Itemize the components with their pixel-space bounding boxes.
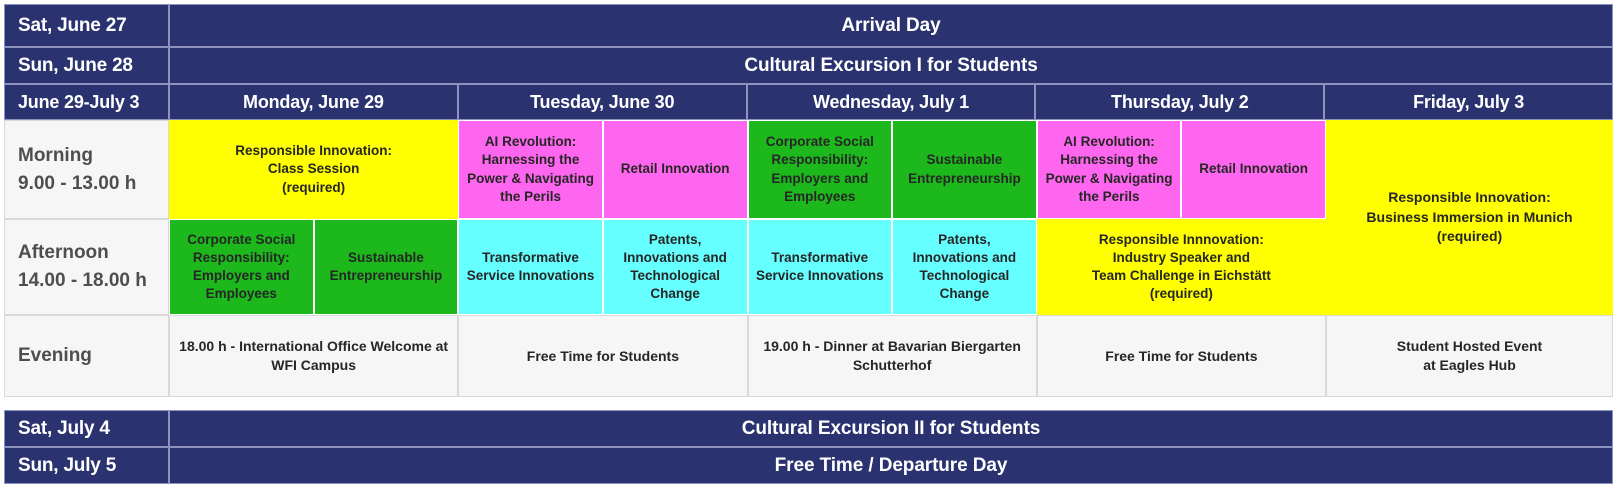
afternoon-label-time: 14.00 - 18.00 h xyxy=(18,267,147,295)
session-cell[interactable]: Patents, Innovations and Technological C… xyxy=(603,219,748,315)
session-cell[interactable]: Corporate Social Responsibility: Employe… xyxy=(169,219,314,315)
afternoon-tuesday: Transformative Service Innovations Paten… xyxy=(458,219,747,315)
friday-column: Responsible Innovation: Business Immersi… xyxy=(1326,120,1613,410)
row-day-label: Sat, July 4 xyxy=(4,410,169,447)
evening-day-columns: 18.00 h - International Office Welcome a… xyxy=(169,315,1326,397)
day-header-wednesday: Wednesday, July 1 xyxy=(747,84,1036,120)
schedule-table: Sat, June 27 Arrival Day Sun, June 28 Cu… xyxy=(0,0,1617,488)
row-day-label: Sun, June 28 xyxy=(4,47,169,84)
table-row: Sat, June 27 Arrival Day xyxy=(4,4,1613,47)
session-cell[interactable]: Transformative Service Innovations xyxy=(458,219,603,315)
evening-time-label: Evening xyxy=(4,315,169,397)
row-day-label: Sun, July 5 xyxy=(4,447,169,484)
evening-cell[interactable]: Student Hosted Event at Eagles Hub xyxy=(1326,315,1613,397)
morning-time-label: Morning 9.00 - 13.00 h xyxy=(4,120,169,219)
afternoon-wednesday: Transformative Service Innovations Paten… xyxy=(748,219,1037,315)
morning-day-columns: Responsible Innovation: Class Session (r… xyxy=(169,120,1326,219)
table-row: Sun, July 5 Free Time / Departure Day xyxy=(4,447,1613,484)
evening-cell[interactable]: 19.00 h - Dinner at Bavarian Biergarten … xyxy=(748,315,1037,397)
evening-tuesday: Free Time for Students xyxy=(458,315,747,397)
afternoon-thursday: Responsible Innnovation: Industry Speake… xyxy=(1037,219,1326,315)
session-cell[interactable]: AI Revolution: Harnessing the Power & Na… xyxy=(1037,120,1182,219)
session-cell[interactable]: Transformative Service Innovations xyxy=(748,219,893,315)
day-header-monday: Monday, June 29 xyxy=(169,84,458,120)
banner-text: Arrival Day xyxy=(169,4,1613,47)
evening-row: Evening 18.00 h - International Office W… xyxy=(4,315,1326,397)
date-range-label: June 29-July 3 xyxy=(4,84,169,120)
morning-tuesday: AI Revolution: Harnessing the Power & Na… xyxy=(458,120,747,219)
table-row: Sat, July 4 Cultural Excursion II for St… xyxy=(4,410,1613,447)
session-cell[interactable]: Sustainable Entrepreneurship xyxy=(314,219,459,315)
banner-text: Free Time / Departure Day xyxy=(169,447,1613,484)
table-row: Sun, June 28 Cultural Excursion I for St… xyxy=(4,47,1613,84)
slots-region: Morning 9.00 - 13.00 h Responsible Innov… xyxy=(4,120,1613,410)
banner-text: Cultural Excursion I for Students xyxy=(169,47,1613,84)
session-cell[interactable]: AI Revolution: Harnessing the Power & Na… xyxy=(458,120,603,219)
morning-label-title: Morning xyxy=(18,142,93,170)
session-cell[interactable]: Patents, Innovations and Technological C… xyxy=(892,219,1037,315)
slots-left-stack: Morning 9.00 - 13.00 h Responsible Innov… xyxy=(4,120,1326,410)
afternoon-time-label: Afternoon 14.00 - 18.00 h xyxy=(4,219,169,315)
day-header-thursday: Thursday, July 2 xyxy=(1035,84,1324,120)
morning-row: Morning 9.00 - 13.00 h Responsible Innov… xyxy=(4,120,1326,219)
session-cell[interactable]: Corporate Social Responsibility: Employe… xyxy=(748,120,893,219)
morning-thursday: AI Revolution: Harnessing the Power & Na… xyxy=(1037,120,1326,219)
evening-wednesday: 19.00 h - Dinner at Bavarian Biergarten … xyxy=(748,315,1037,397)
morning-monday: Responsible Innovation: Class Session (r… xyxy=(169,120,458,219)
session-cell[interactable]: Retail Innovation xyxy=(603,120,748,219)
afternoon-monday: Corporate Social Responsibility: Employe… xyxy=(169,219,458,315)
afternoon-row: Afternoon 14.00 - 18.00 h Corporate Soci… xyxy=(4,219,1326,315)
morning-wednesday: Corporate Social Responsibility: Employe… xyxy=(748,120,1037,219)
evening-thursday: Free Time for Students xyxy=(1037,315,1326,397)
session-cell[interactable]: Responsible Innovation: Class Session (r… xyxy=(169,120,458,219)
session-cell[interactable]: Retail Innovation xyxy=(1181,120,1326,219)
evening-monday: 18.00 h - International Office Welcome a… xyxy=(169,315,458,397)
evening-cell[interactable]: Free Time for Students xyxy=(458,315,747,397)
row-day-label: Sat, June 27 xyxy=(4,4,169,47)
evening-label-title: Evening xyxy=(18,342,92,370)
day-header-friday: Friday, July 3 xyxy=(1324,84,1613,120)
session-cell[interactable]: Sustainable Entrepreneurship xyxy=(892,120,1037,219)
day-header-tuesday: Tuesday, June 30 xyxy=(458,84,747,120)
evening-cell[interactable]: Free Time for Students xyxy=(1037,315,1326,397)
day-header-row: June 29-July 3 Monday, June 29 Tuesday, … xyxy=(4,84,1613,120)
friday-merged-session-cell[interactable]: Responsible Innovation: Business Immersi… xyxy=(1326,120,1613,315)
morning-label-time: 9.00 - 13.00 h xyxy=(18,170,136,198)
session-cell[interactable]: Responsible Innnovation: Industry Speake… xyxy=(1037,219,1326,315)
afternoon-day-columns: Corporate Social Responsibility: Employe… xyxy=(169,219,1326,315)
banner-text: Cultural Excursion II for Students xyxy=(169,410,1613,447)
afternoon-label-title: Afternoon xyxy=(18,239,109,267)
evening-cell[interactable]: 18.00 h - International Office Welcome a… xyxy=(169,315,458,397)
